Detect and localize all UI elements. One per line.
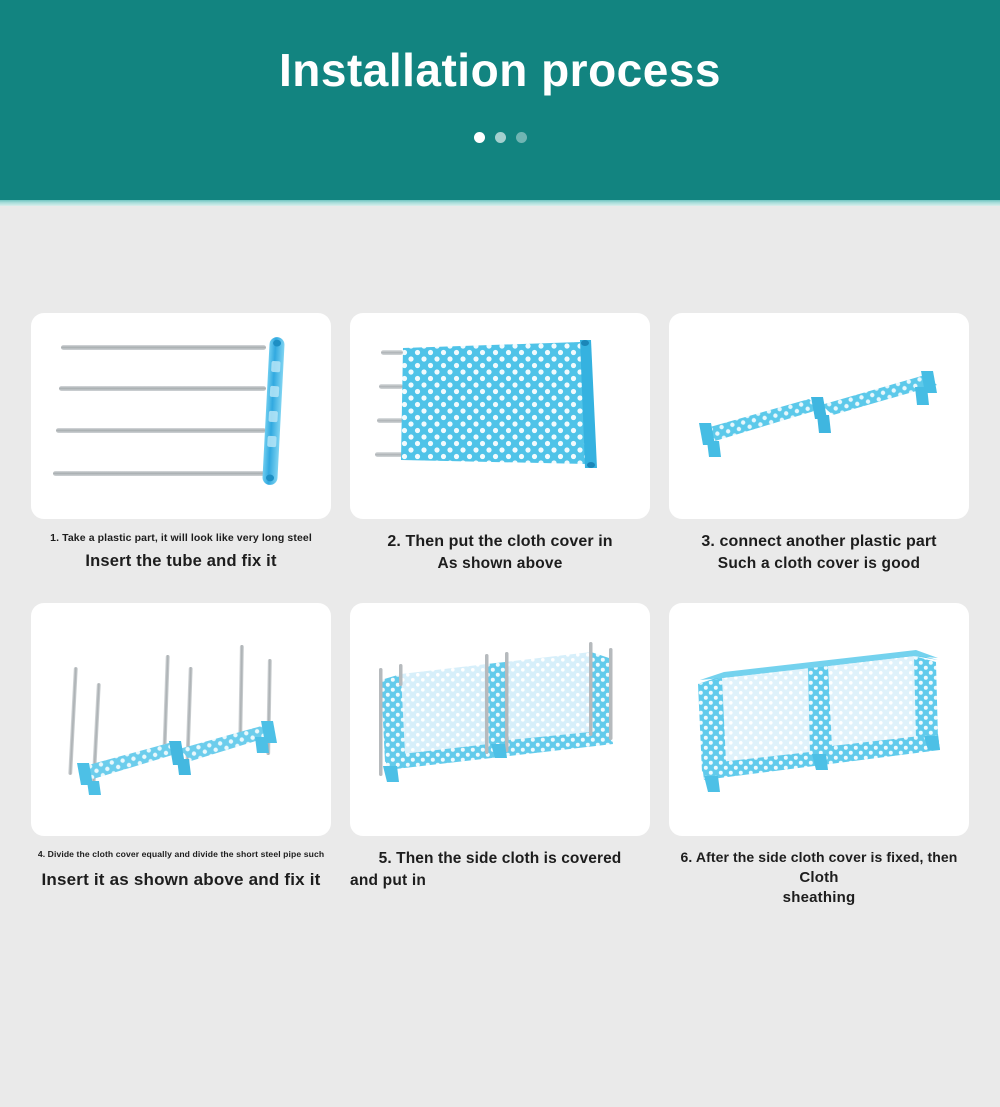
step-1-caption-line2: Insert the tube and fix it — [31, 551, 331, 572]
step-1-caption: 1. Take a plastic part, it will look lik… — [31, 532, 331, 573]
step-2-caption-line2: As shown above — [350, 554, 650, 574]
step-4-image-card — [31, 603, 331, 836]
step-card-2[interactable]: 2. Then put the cloth cover in As shown … — [350, 313, 650, 574]
completed-two-compartment-cloth-wardrobe-image — [669, 603, 969, 836]
step-5-caption: 5. Then the side cloth is covered and pu… — [350, 849, 650, 891]
step-6-caption: 6. After the side cloth cover is fixed, … — [669, 849, 969, 908]
step-2-caption: 2. Then put the cloth cover in As shown … — [350, 532, 650, 574]
page-title: Installation process — [279, 45, 721, 96]
four-steel-tubes-with-blue-plastic-connector-image — [31, 313, 331, 519]
step-5-caption-line2: and put in — [350, 871, 650, 891]
step-6-caption-line2: Cloth — [669, 868, 969, 888]
installation-steps-panel: 1. Take a plastic part, it will look lik… — [0, 313, 1000, 1107]
step-4-caption-line2: Insert it as shown above and fix it — [31, 869, 331, 891]
step-3-caption-line2: Such a cloth cover is good — [669, 554, 969, 574]
shelf-with-side-cloth-panels-attached-image — [350, 603, 650, 836]
step-6-caption-line3: sheathing — [669, 888, 969, 908]
steps-row-2: 4. Divide the cloth cover equally and di… — [0, 603, 1000, 908]
step-card-5[interactable]: 5. Then the side cloth is covered and pu… — [350, 603, 650, 908]
dot-3-icon[interactable] — [516, 132, 527, 143]
step-3-caption: 3. connect another plastic part Such a c… — [669, 532, 969, 574]
page-header: Installation process — [0, 0, 1000, 200]
two-shelf-panels-connected-flat-image — [669, 313, 969, 519]
step-5-caption-line1: 5. Then the side cloth is covered — [350, 849, 650, 868]
header-accent-strip — [0, 200, 1000, 206]
step-2-caption-line1: 2. Then put the cloth cover in — [350, 532, 650, 552]
step-4-caption: 4. Divide the cloth cover equally and di… — [31, 849, 331, 891]
step-1-image-card — [31, 313, 331, 519]
shelf-base-with-six-vertical-steel-poles-image — [31, 603, 331, 836]
step-3-caption-line1: 3. connect another plastic part — [669, 532, 969, 552]
step-6-caption-line1: 6. After the side cloth cover is fixed, … — [669, 849, 969, 867]
step-3-image-card — [669, 313, 969, 519]
step-card-6[interactable]: 6. After the side cloth cover is fixed, … — [669, 603, 969, 908]
steps-row-1: 1. Take a plastic part, it will look lik… — [0, 313, 1000, 574]
step-6-image-card — [669, 603, 969, 836]
dot-2-icon[interactable] — [495, 132, 506, 143]
step-card-1[interactable]: 1. Take a plastic part, it will look lik… — [31, 313, 331, 574]
step-card-3[interactable]: 3. connect another plastic part Such a c… — [669, 313, 969, 574]
step-2-image-card — [350, 313, 650, 519]
step-1-caption-line1: 1. Take a plastic part, it will look lik… — [31, 532, 331, 545]
step-card-4[interactable]: 4. Divide the cloth cover equally and di… — [31, 603, 331, 908]
dot-active-icon[interactable] — [474, 132, 485, 143]
step-5-image-card — [350, 603, 650, 836]
carousel-dots[interactable] — [474, 132, 527, 143]
step-4-caption-line1: 4. Divide the cloth cover equally and di… — [31, 849, 331, 860]
blue-polka-dot-cloth-cover-on-frame-image — [350, 313, 650, 519]
